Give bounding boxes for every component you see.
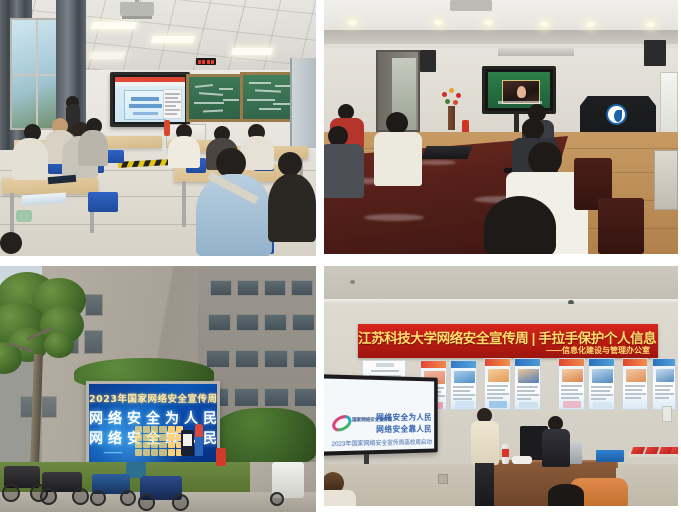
presenter-legs: [475, 463, 494, 506]
speaker-icon: [420, 50, 436, 72]
presenter-torso: [471, 421, 499, 465]
photo-meeting-room[interactable]: [324, 0, 678, 254]
attendee: [376, 112, 418, 182]
tree-trunk: [30, 354, 43, 466]
ceiling-light: [91, 22, 137, 29]
info-poster: [484, 358, 511, 410]
projector-icon: [450, 0, 492, 11]
ceiling-light: [151, 36, 195, 43]
info-poster: [588, 358, 615, 410]
cybersecurity-week-logo-icon: 国家网络安全宣传周: [331, 414, 368, 433]
hedge-right: [212, 408, 316, 464]
info-poster: [652, 358, 676, 410]
water-bottle: [502, 444, 509, 464]
student-body: [268, 174, 316, 242]
attendee: [466, 196, 576, 254]
photo-classroom[interactable]: [0, 0, 316, 256]
wall-control-panel[interactable]: [662, 406, 672, 422]
staff-torso: [542, 429, 570, 467]
student-body: [12, 138, 48, 180]
photo-led-billboard[interactable]: 2023年国家网络安全宣传周 网络安全为人民 网络安全靠人民: [0, 266, 316, 512]
projection-screen: [110, 72, 190, 127]
student-body: [78, 130, 108, 166]
laptop: [421, 146, 472, 159]
banner-title: 江苏科技大学网络安全宣传周 | 手拉手保护个人信息 心连心建设智慧科大: [358, 327, 658, 347]
screen-content: [115, 77, 185, 122]
window-mullion: [12, 74, 60, 76]
pull-down-screen: [498, 48, 574, 56]
info-poster: [622, 358, 648, 410]
billboard-title: 2023年国家网络安全宣传周: [89, 391, 217, 405]
meeting-room-scene: [324, 0, 678, 254]
tv-picture: [488, 72, 550, 108]
app-menubar: [115, 82, 185, 86]
classroom-chair: [106, 150, 124, 163]
projector-icon: [120, 2, 154, 16]
speaker-icon: [644, 40, 666, 66]
flower-stand: [448, 106, 455, 130]
slide-thumbnail: [124, 90, 166, 120]
led-clock: [196, 58, 216, 65]
banner-subtitle: ——信息化建设与管理办公室: [546, 345, 650, 356]
display-footer: 2023年国家网络安全宣传周高校周启动: [331, 437, 431, 448]
ceiling-sensor-icon: [350, 280, 355, 284]
student-body: [168, 136, 200, 168]
staff-seated: [542, 416, 570, 468]
cup: [16, 210, 32, 222]
foreground-person: [548, 484, 584, 506]
sign-in-card: [596, 450, 624, 462]
classroom-door[interactable]: [290, 58, 316, 148]
chalkboard-left: [186, 74, 244, 122]
window: [10, 18, 62, 130]
ceiling-soffit: [324, 30, 678, 44]
info-poster: [558, 358, 585, 410]
large-touch-display[interactable]: 国家网络安全宣传周 网络安全为人民 网络安全靠人民 2023年国家网络安全宣传周…: [324, 374, 438, 456]
student-head: [278, 152, 302, 176]
seated-attendee-left: [324, 472, 360, 506]
photo-collage: 2023年国家网络安全宣传周 网络安全为人民 网络安全靠人民: [0, 0, 681, 512]
ceiling-light: [231, 48, 273, 55]
info-poster: [514, 358, 541, 410]
paper-stack: [512, 456, 532, 464]
college-emblem-icon: [606, 104, 627, 125]
attendee: [324, 126, 360, 196]
flower-arrangement: [440, 88, 464, 108]
slide-sidepanel: [163, 89, 182, 119]
floor-outlet-icon: [438, 474, 448, 484]
person-on-screen: [517, 86, 526, 98]
folding-table: [654, 150, 678, 210]
chalkboard-right: [240, 72, 296, 122]
event-banner: 江苏科技大学网络安全宣传周 | 手拉手保护个人信息 心连心建设智慧科大 ——信息…: [358, 324, 658, 358]
display-line-2: 网络安全靠人民: [376, 424, 432, 435]
billboard-figure: [179, 424, 207, 458]
classroom-chair: [88, 192, 118, 212]
presenter-standing: [470, 408, 500, 506]
fire-hydrant-icon: [216, 448, 226, 466]
display-line-1: 网络安全为人民: [376, 412, 432, 423]
photo-banner-room[interactable]: 江苏科技大学网络安全宣传周 | 手拉手保护个人信息 心连心建设智慧科大 ——信息…: [324, 266, 678, 506]
fire-extinguisher-icon: [164, 120, 170, 136]
attendee-torso: [324, 490, 356, 506]
side-table: [628, 452, 678, 478]
classroom-scene: [0, 0, 316, 256]
billboard-scene: 2023年国家网络安全宣传周 网络安全为人民 网络安全靠人民: [0, 266, 316, 512]
billboard-icon-grid: [135, 426, 183, 456]
led-billboard[interactable]: 2023年国家网络安全宣传周 网络安全为人民 网络安全靠人民: [86, 381, 220, 469]
banner-room-scene: 江苏科技大学网络安全宣传周 | 手拉手保护个人信息 心连心建设智慧科大 ——信息…: [324, 266, 678, 506]
chair: [598, 198, 644, 254]
ceiling-light: [89, 52, 125, 59]
student-head: [0, 232, 22, 254]
info-poster: [450, 360, 477, 410]
